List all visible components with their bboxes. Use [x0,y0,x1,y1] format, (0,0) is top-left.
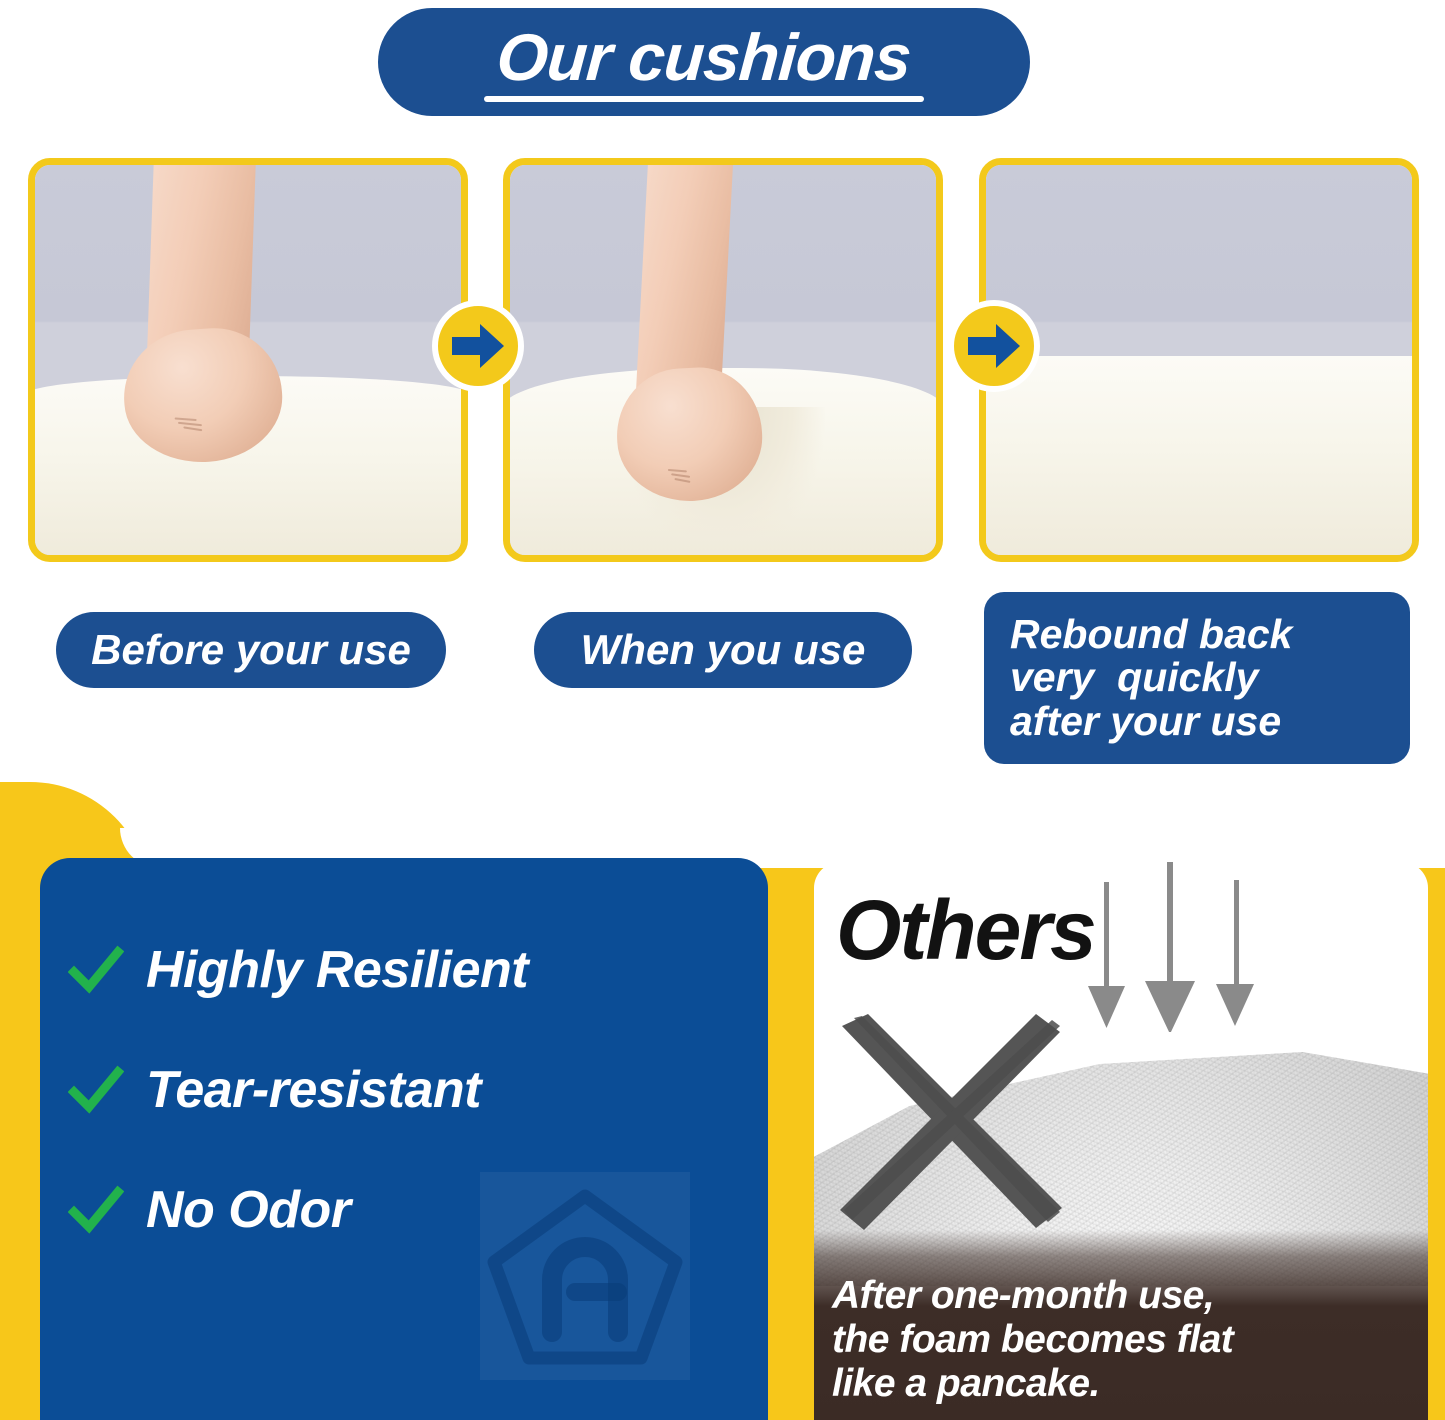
feature-item-tear-resistant: Tear-resistant [68,1060,481,1120]
step-label-rebound-line1: Rebound back [1010,613,1292,656]
feature-label: No Odor [146,1180,350,1240]
arrow-right-icon [948,300,1040,392]
x-cross-icon [824,1012,1074,1242]
step-photo-when [503,158,943,562]
feature-item-highly-resilient: Highly Resilient [68,940,528,1000]
step-photo-before [28,158,468,562]
down-arrow-icon [1082,862,1282,1032]
others-panel: Others [814,862,1428,1420]
knuckle-line [178,421,202,425]
step-photo-rebound [979,158,1419,562]
knuckle-line [671,473,690,478]
others-title: Others [836,888,1095,972]
check-icon [68,1182,124,1238]
step-label-rebound-line2: very quickly [1010,656,1258,699]
pentagon-logo-icon [480,1172,690,1380]
knuckle-line [175,417,197,421]
step-label-before: Before your use [56,612,446,688]
foam-surface [979,356,1419,562]
others-caption-line1: After one-month use, [832,1274,1418,1318]
others-caption-line3: like a pancake. [832,1362,1418,1406]
knuckle-line [668,468,687,472]
infographic-root: Our cushions [0,0,1445,1420]
arrow-right-icon [432,300,524,392]
check-icon [68,942,124,998]
step-photo-strip [0,158,1445,562]
knuckle-line [674,478,690,483]
feature-item-no-odor: No Odor [68,1180,350,1240]
feature-label: Highly Resilient [146,940,528,1000]
others-caption: After one-month use, the foam becomes fl… [832,1274,1418,1406]
step-label-when: When you use [534,612,912,688]
page-title-pill: Our cushions [378,8,1030,116]
page-title: Our cushions [495,24,913,90]
knuckle-line [183,426,202,431]
feature-label: Tear-resistant [146,1060,481,1120]
step-label-rebound: Rebound back very quickly after your use [984,592,1410,764]
title-underline [484,96,924,102]
check-icon [68,1062,124,1118]
step-label-rebound-line3: after your use [1010,700,1281,743]
others-caption-line2: the foam becomes flat [832,1318,1418,1362]
